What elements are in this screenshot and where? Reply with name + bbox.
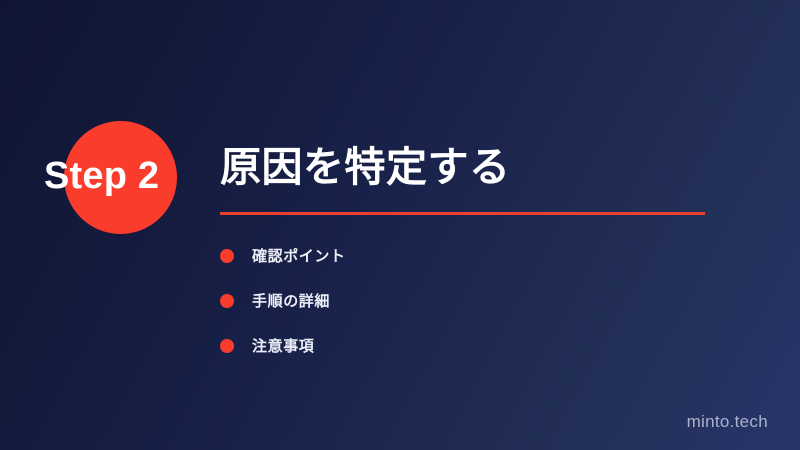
footer-watermark: minto.tech <box>687 412 768 432</box>
page-title: 原因を特定する <box>220 140 720 194</box>
bullet-list: 確認ポイント 手順の詳細 注意事項 <box>220 233 690 368</box>
list-item-label: 確認ポイント <box>252 245 346 266</box>
bullet-dot-icon <box>220 249 234 263</box>
list-item: 確認ポイント <box>220 233 690 278</box>
list-item-label: 注意事項 <box>252 335 314 356</box>
list-item-label: 手順の詳細 <box>252 290 330 311</box>
title-block: 原因を特定する <box>220 140 720 194</box>
bullet-dot-icon <box>220 339 234 353</box>
title-divider <box>220 212 705 215</box>
bullet-dot-icon <box>220 294 234 308</box>
list-item: 手順の詳細 <box>220 278 690 323</box>
slide-canvas: Step 2 原因を特定する 確認ポイント 手順の詳細 注意事項 minto.t… <box>0 0 800 450</box>
step-badge-label: Step 2 <box>44 152 204 200</box>
list-item: 注意事項 <box>220 323 690 368</box>
